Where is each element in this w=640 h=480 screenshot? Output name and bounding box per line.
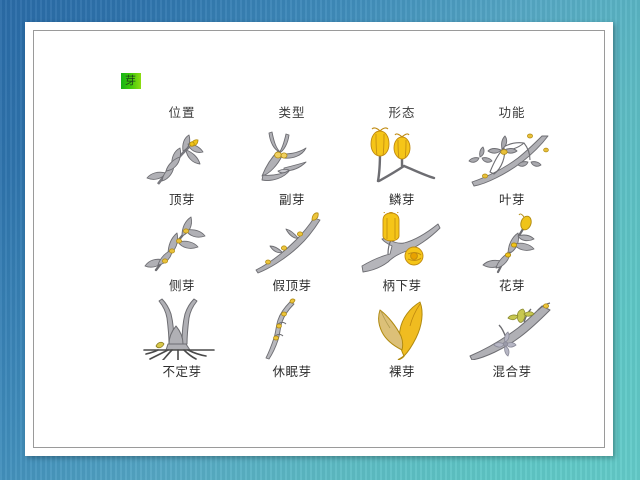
leafy-branch-with-flower-bud-icon (468, 212, 556, 274)
grid-cell-mixed-bud: 混合芽 (468, 298, 556, 380)
presentation-slide: 芽 位置 类型 形态 功能 (0, 0, 640, 480)
cell-label: 休眠芽 (272, 361, 311, 380)
bare-branch-pseudoterminal-bud-icon (248, 212, 336, 274)
grid-row: 侧芽 (138, 212, 558, 294)
branch-with-mixed-bud-and-flower-icon (468, 298, 556, 360)
bud-type-grid: 顶芽 (138, 126, 558, 384)
grid-cell-leaf-bud: 叶芽 (468, 126, 556, 208)
cell-label: 裸芽 (389, 361, 415, 380)
page-title: 芽 (121, 73, 141, 89)
slide-content: 芽 位置 类型 形态 功能 (25, 22, 613, 456)
column-header-type: 类型 (248, 102, 336, 121)
stalk-with-bud-and-round-subpetiolar-bud-icon (358, 212, 446, 274)
grid-cell-scaly-bud: 鳞芽 (358, 126, 446, 208)
grid-cell-dormant-bud: 休眠芽 (248, 298, 336, 380)
cell-label: 柄下芽 (382, 275, 421, 294)
branch-alternating-leaves-lateral-buds-icon (138, 212, 226, 274)
grid-row: 不定芽 (138, 298, 558, 380)
column-header-position: 位置 (138, 102, 226, 121)
grid-cell-flower-bud: 花芽 (468, 212, 556, 294)
title-container: 芽 (121, 69, 141, 89)
grid-cell-adventitious-bud: 不定芽 (138, 298, 226, 380)
column-header-row: 位置 类型 形态 功能 (138, 102, 558, 121)
forked-branch-accessory-buds-icon (248, 126, 336, 188)
cell-label: 花芽 (499, 275, 525, 294)
cell-label: 混合芽 (492, 361, 531, 380)
grid-cell-pseudoterminal-bud: 假顶芽 (248, 212, 336, 294)
grid-row: 顶芽 (138, 126, 558, 208)
grid-cell-subpetiolar-bud: 柄下芽 (358, 212, 446, 294)
cell-label: 侧芽 (169, 275, 195, 294)
horizontal-branch-leaf-buds-icon (468, 126, 556, 188)
cell-label: 假顶芽 (272, 275, 311, 294)
thin-twig-dormant-bud-icon (248, 298, 336, 360)
column-header-form: 形态 (358, 102, 446, 121)
two-scaly-buds-on-stems-icon (358, 126, 446, 188)
column-header-function: 功能 (468, 102, 556, 121)
grid-cell-lateral-bud: 侧芽 (138, 212, 226, 294)
cell-label: 副芽 (279, 189, 305, 208)
two-yellow-naked-buds-icon (358, 298, 446, 360)
grid-cell-accessory-bud: 副芽 (248, 126, 336, 208)
branch-with-leaves-terminal-bud-icon (138, 126, 226, 188)
cell-label: 鳞芽 (389, 189, 415, 208)
cell-label: 顶芽 (169, 189, 195, 208)
cell-label: 叶芽 (499, 189, 525, 208)
grid-cell-naked-bud: 裸芽 (358, 298, 446, 380)
grid-cell-terminal-bud: 顶芽 (138, 126, 226, 208)
cell-label: 不定芽 (162, 361, 201, 380)
tree-trunk-roots-adventitious-bud-icon (138, 298, 226, 360)
slide-content-card: 芽 位置 类型 形态 功能 (25, 22, 613, 456)
